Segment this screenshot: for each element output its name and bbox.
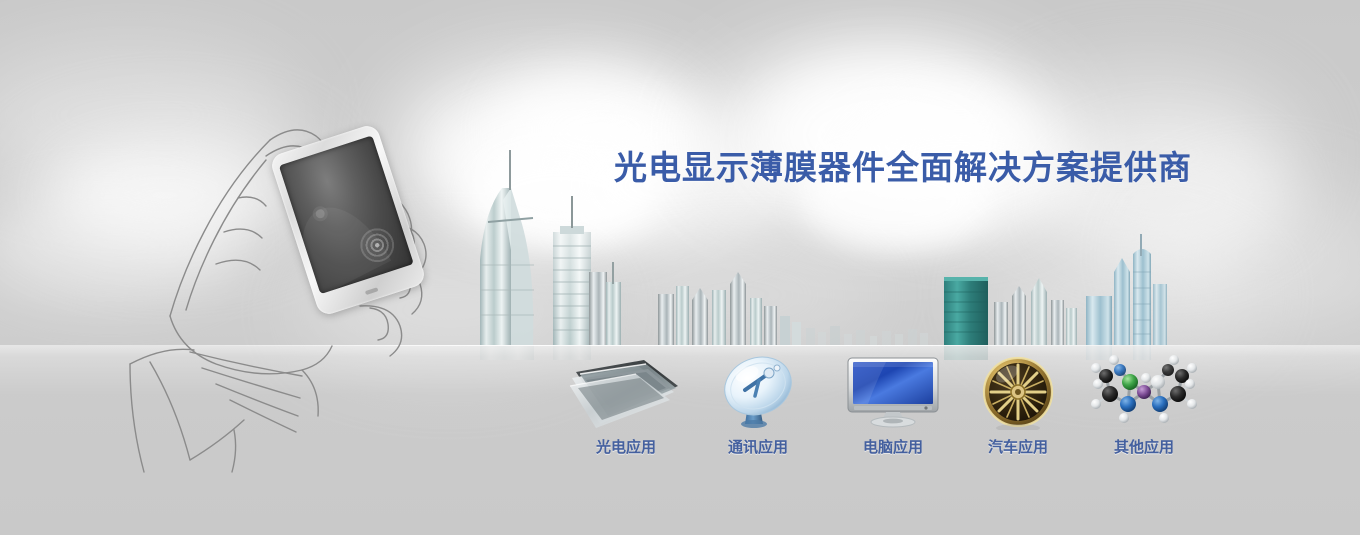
banner-hero: 光电显示薄膜器件全面解决方案提供商 bbox=[0, 0, 1360, 535]
distant-buildings bbox=[806, 326, 928, 345]
application-item-automotive[interactable]: 汽车应用 bbox=[950, 352, 1086, 457]
page-title: 光电显示薄膜器件全面解决方案提供商 bbox=[614, 141, 1192, 189]
application-icons-row: 光电应用 bbox=[0, 352, 1360, 472]
main-tower bbox=[553, 196, 621, 345]
glass-film-panels-icon bbox=[558, 352, 694, 430]
application-item-computer[interactable]: 电脑应用 bbox=[825, 352, 961, 457]
application-label: 通讯应用 bbox=[690, 436, 826, 457]
molecule-model-icon bbox=[1076, 352, 1212, 430]
application-label: 其他应用 bbox=[1076, 436, 1212, 457]
right-skyline-cluster bbox=[994, 278, 1077, 345]
application-item-optoelectronic[interactable]: 光电应用 bbox=[558, 352, 694, 457]
application-item-other[interactable]: 其他应用 bbox=[1076, 352, 1212, 457]
application-label: 电脑应用 bbox=[825, 436, 961, 457]
application-label: 汽车应用 bbox=[950, 436, 1086, 457]
application-label: 光电应用 bbox=[558, 436, 694, 457]
teal-tower bbox=[944, 277, 988, 345]
sail-tower bbox=[480, 150, 534, 345]
computer-monitor-icon bbox=[825, 352, 961, 430]
alloy-wheel-icon bbox=[950, 352, 1086, 430]
application-item-communication[interactable]: 通讯应用 bbox=[690, 352, 826, 457]
mid-skyline-cluster bbox=[658, 272, 801, 345]
blue-glass-towers bbox=[1086, 234, 1167, 345]
satellite-dish-icon bbox=[690, 352, 826, 430]
